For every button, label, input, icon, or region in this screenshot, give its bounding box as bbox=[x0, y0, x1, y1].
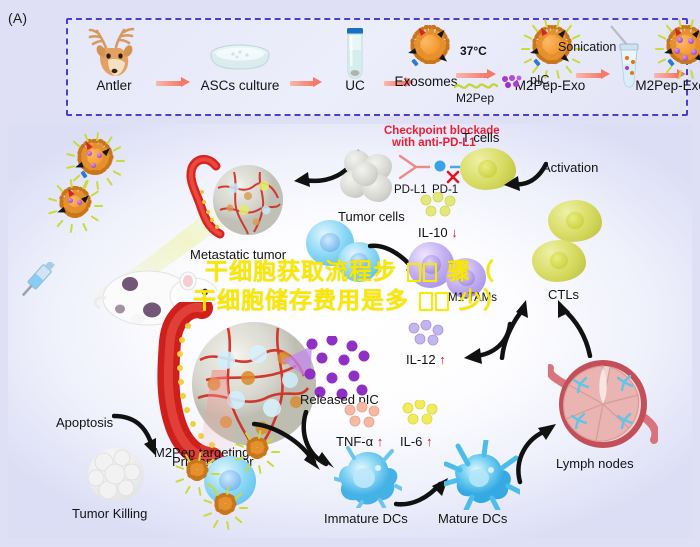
petri-dish-icon bbox=[209, 42, 271, 72]
panel-a: Antler ASCs culture bbox=[66, 18, 688, 116]
lymph-node-icon bbox=[548, 354, 658, 458]
arrow-tumor-to-dc bbox=[252, 420, 324, 472]
cytokine-il6-change: ↑ bbox=[426, 434, 433, 449]
arrow-antler-to-ascs bbox=[156, 78, 190, 87]
cytokine-tnfa: TNF-α ↑ bbox=[336, 434, 383, 449]
metastatic-tumor-graphic bbox=[186, 152, 306, 244]
arrow-ascs-to-uc bbox=[290, 78, 322, 87]
label-apoptosis: Apoptosis bbox=[56, 415, 113, 430]
arrow-activation bbox=[504, 158, 548, 192]
deer-icon bbox=[86, 26, 142, 78]
cytokine-il12-name: IL-12 bbox=[406, 352, 436, 367]
arrow-to-ctls-2 bbox=[550, 300, 594, 358]
il10-cytokine-dots bbox=[418, 192, 466, 222]
ctl-icon-2 bbox=[532, 240, 586, 282]
pic-label: pIC bbox=[530, 73, 549, 87]
cytokine-il10-name: IL-10 bbox=[418, 225, 448, 240]
metastatic-tumor-icon bbox=[186, 152, 306, 244]
panel-a-letter: (A) bbox=[8, 10, 27, 26]
m2pep-exosome-pic-icon bbox=[660, 22, 700, 74]
immature-dc-icon bbox=[334, 446, 402, 508]
arrow-il12-curve bbox=[452, 320, 514, 366]
step-ascs-culture-label: ASCs culture bbox=[201, 78, 280, 93]
lymph-node-graphic bbox=[548, 354, 658, 458]
mature-dc-icon bbox=[444, 440, 520, 510]
panel-b: Metastatic tumor Tumor cells Checkpoint … bbox=[8, 124, 692, 538]
label-m1-tams: M1-TAMs bbox=[448, 292, 497, 304]
label-mature-dcs: Mature DCs bbox=[438, 511, 507, 526]
figure-root: (A) Antler bbox=[0, 0, 700, 547]
cytokine-il10-change: ↓ bbox=[451, 225, 458, 240]
label-activation: Activation bbox=[542, 160, 598, 175]
label-metastatic-tumor: Metastatic tumor bbox=[190, 247, 286, 262]
syringe-icon bbox=[16, 262, 56, 304]
targeting-exosome-icon-1 bbox=[186, 462, 208, 484]
tnfa-cytokine-dots bbox=[342, 402, 390, 432]
cytokine-tnfa-name: TNF-α bbox=[336, 434, 373, 449]
step-antler-label: Antler bbox=[96, 78, 131, 93]
tumor-cells-graphic bbox=[338, 148, 400, 208]
il12-cytokine-dots bbox=[406, 320, 454, 350]
label-lymph-nodes: Lymph nodes bbox=[556, 456, 634, 471]
step-exosomes-label: Exosomes bbox=[394, 74, 457, 89]
step-m2pep-exo-pic-label: M2Pep-Exo(pIC) bbox=[635, 78, 700, 93]
cytokine-il6-name: IL-6 bbox=[400, 434, 422, 449]
targeting-exosome-icon-3 bbox=[214, 496, 236, 518]
label-immature-dcs: Immature DCs bbox=[324, 511, 408, 526]
exosome-icon bbox=[408, 26, 452, 70]
apoptosis-fragments-icon bbox=[88, 448, 144, 502]
injected-exosome-icon-1 bbox=[73, 138, 117, 182]
ctl-icon-1 bbox=[548, 200, 602, 242]
step-antler: Antler bbox=[74, 26, 154, 100]
step-ascs-culture: ASCs culture bbox=[192, 26, 288, 100]
step-m2pep-exo-pic: M2Pep-Exo(pIC) bbox=[596, 20, 700, 104]
label-tumor-killing: Tumor Killing bbox=[72, 506, 147, 521]
label-t-cells: T cells bbox=[462, 130, 499, 145]
cytokine-tnfa-change: ↑ bbox=[377, 434, 384, 449]
cytokine-il6: IL-6 ↑ bbox=[400, 434, 433, 449]
cytokine-il12: IL-12 ↑ bbox=[406, 352, 446, 367]
cytokine-il10: IL-10 ↓ bbox=[418, 225, 458, 240]
il6-cytokine-dots bbox=[400, 400, 448, 430]
pic-cluster-icon bbox=[500, 75, 526, 89]
label-tumor-cells: Tumor cells bbox=[338, 209, 405, 224]
cytokine-il12-change: ↑ bbox=[439, 352, 446, 367]
